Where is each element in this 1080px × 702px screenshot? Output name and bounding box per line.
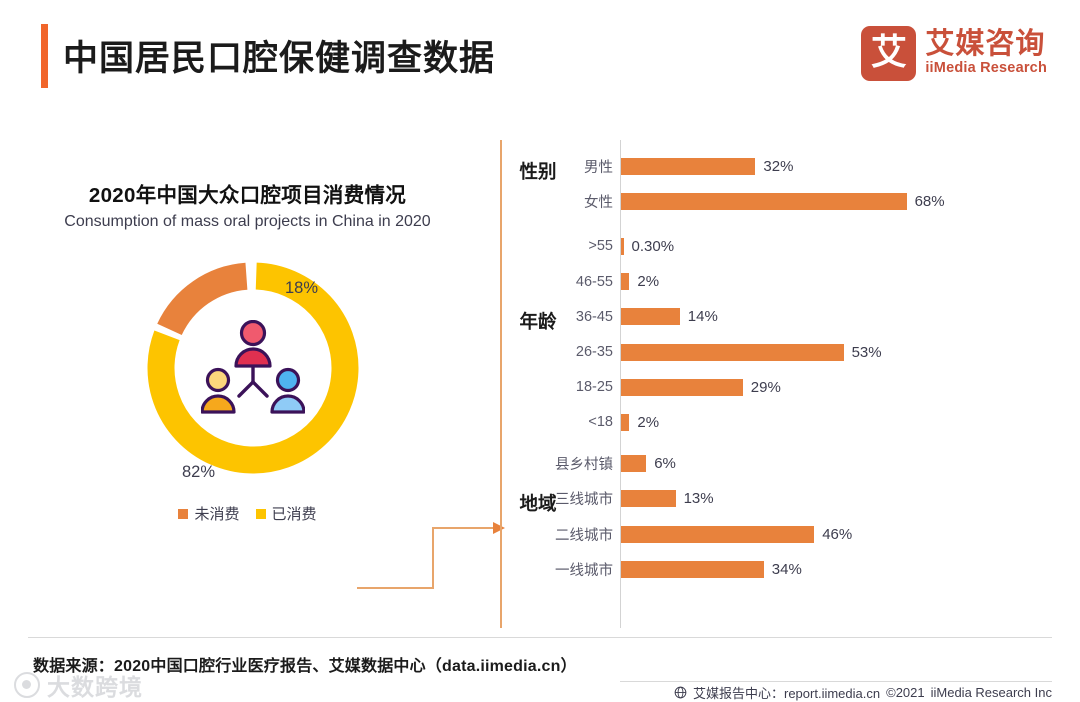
donut-label-consumed: 82% (182, 463, 215, 482)
bar-row: 46-552% (495, 267, 1080, 297)
bar-row: 二线城市46% (495, 519, 1080, 549)
bar-category-label: 二线城市 (547, 524, 613, 545)
bar-row: 三线城市13% (495, 484, 1080, 514)
bar (621, 455, 646, 472)
bar-row: >550.30% (495, 231, 1080, 261)
bar-row: 一线城市34% (495, 554, 1080, 584)
legend-item-not-consumed: 未消费 (178, 503, 239, 524)
bar-category-label: >55 (547, 238, 613, 254)
globe-icon (674, 686, 687, 699)
footer-meta: 艾媒报告中心：report.iimedia.cn ©2021 iiMedia R… (674, 683, 1052, 702)
bar-row: 26-3553% (495, 337, 1080, 367)
bar-category-label: 县乡村镇 (547, 453, 613, 474)
bar-row: 县乡村镇6% (495, 449, 1080, 479)
bar-row: 女性68% (495, 186, 1080, 216)
footer-divider-secondary (620, 681, 1052, 682)
donut-label-not-consumed: 18% (285, 279, 318, 298)
bar-row: 男性32% (495, 151, 1080, 181)
brand-name-en: iiMedia Research (925, 60, 1047, 77)
brand-logo-text: 艾媒咨询 iiMedia Research (925, 29, 1047, 78)
bar-value-label: 34% (772, 561, 802, 578)
bar-value-label: 68% (915, 193, 945, 210)
title-accent-bar (41, 24, 48, 88)
page-header: 中国居民口腔保健调查数据 艾 艾媒咨询 iiMedia Research (0, 0, 1080, 118)
bar (621, 238, 624, 255)
bar-value-label: 0.30% (632, 238, 675, 255)
bar-value-label: 46% (822, 526, 852, 543)
person-icon-blue (272, 370, 304, 413)
bar (621, 561, 764, 578)
company-name-text: iiMedia Research Inc (931, 685, 1052, 700)
bar (621, 526, 814, 543)
person-icon-red (236, 322, 270, 367)
bar-group-label: 年龄 (519, 311, 557, 332)
donut-chart (143, 258, 363, 478)
data-source-text: 数据来源：2020中国口腔行业医疗报告、艾媒数据中心（data.iimedia.… (33, 652, 577, 676)
brand-logo-mark: 艾 (861, 26, 916, 81)
legend-label-not-consumed: 未消费 (194, 503, 239, 524)
bar-row: <182% (495, 407, 1080, 437)
bar-row: 18-2529% (495, 372, 1080, 402)
legend-item-consumed: 已消费 (256, 503, 317, 524)
bar-category-label: <18 (547, 414, 613, 430)
bar-row: 36-4514% (495, 302, 1080, 332)
donut-chart-subtitle: Consumption of mass oral projects in Chi… (0, 213, 495, 231)
person-icon-yellow (202, 370, 234, 413)
brand-name-cn: 艾媒咨询 (925, 29, 1047, 59)
donut-chart-panel: 2020年中国大众口腔项目消费情况 Consumption of mass or… (0, 118, 495, 628)
bar (621, 344, 844, 361)
bar (621, 308, 680, 325)
bar-value-label: 53% (852, 344, 882, 361)
brand-logo: 艾 艾媒咨询 iiMedia Research (861, 22, 1047, 84)
bar (621, 193, 907, 210)
three-people-network-icon (201, 320, 305, 416)
copyright-text: ©2021 (886, 685, 925, 700)
legend-swatch-icon-consumed (256, 509, 266, 519)
bar-value-label: 6% (654, 455, 676, 472)
bar-group-label: 性别 (519, 161, 557, 182)
page-title: 中国居民口腔保健调查数据 (63, 30, 495, 81)
donut-chart-title: 2020年中国大众口腔项目消费情况 (0, 178, 495, 208)
bar-category-label: 女性 (547, 191, 613, 212)
legend-label-consumed: 已消费 (272, 503, 317, 524)
bar-group-label: 地域 (519, 493, 557, 514)
bar-value-label: 32% (763, 158, 793, 175)
bar-value-label: 14% (688, 308, 718, 325)
bar (621, 490, 676, 507)
report-center-link[interactable]: 艾媒报告中心：report.iimedia.cn (693, 683, 880, 702)
bar-value-label: 2% (637, 273, 659, 290)
bar-category-label: 46-55 (547, 274, 613, 290)
connector-arrow-icon (355, 508, 510, 598)
footer-divider (28, 637, 1052, 638)
bar (621, 273, 629, 290)
bar (621, 414, 629, 431)
bar-value-label: 2% (637, 414, 659, 431)
bar-value-label: 13% (684, 490, 714, 507)
bar-chart-panel: 男性32%女性68%>550.30%46-552%36-4514%26-3553… (495, 138, 1080, 630)
bar-value-label: 29% (751, 379, 781, 396)
bar (621, 158, 755, 175)
bar-category-label: 18-25 (547, 379, 613, 395)
bar-category-label: 26-35 (547, 344, 613, 360)
bar-category-label: 一线城市 (547, 559, 613, 580)
legend-swatch-icon-not-consumed (178, 509, 188, 519)
bar (621, 379, 743, 396)
